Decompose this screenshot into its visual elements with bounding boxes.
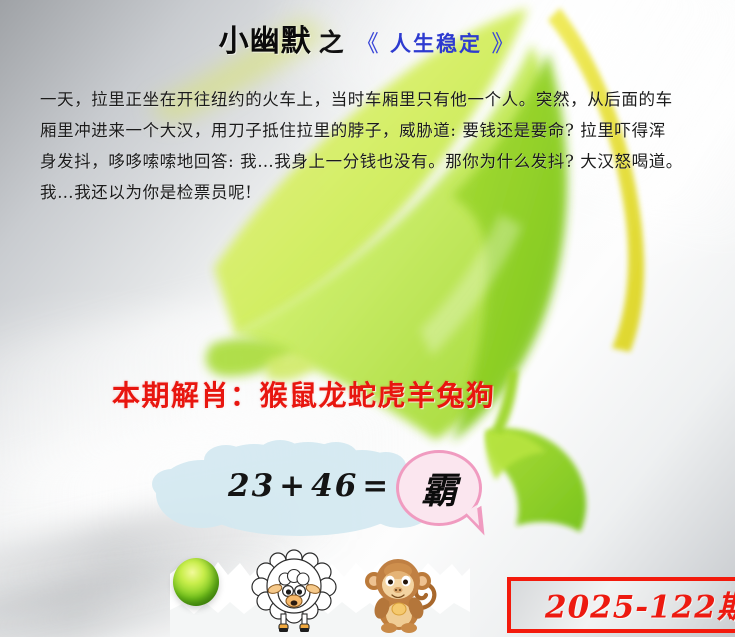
equation-operator: +	[279, 468, 307, 504]
title-main: 小幽默	[219, 24, 312, 59]
title-subtitle-text: 人生稳定	[390, 32, 482, 56]
story-line: 一天，拉里正坐在开往纽约的火车上，当时车厢里只有他一个人。突然，从后面的车	[40, 84, 700, 115]
equation-equals: =	[362, 468, 390, 504]
lottery-poster: 小幽默之《 人生稳定 》 一天，拉里正坐在开往纽约的火车上，当时车厢里只有他一个…	[0, 0, 735, 637]
zodiac-forecast: 本期解肖：猴鼠龙蛇虎羊兔狗	[112, 374, 496, 414]
bracket-close: 》	[491, 31, 516, 57]
equation: 23+46=	[228, 468, 394, 504]
story-line: 厢里冲进来一个大汉，用刀子抵住拉里的脖子，威胁道: 要钱还是要命? 拉里吓得浑	[40, 115, 700, 146]
answer-character: 霸	[396, 450, 482, 526]
issue-number: 2025-122期	[545, 582, 735, 627]
answer-bubble: 霸	[396, 450, 500, 546]
monkey-cartoon	[358, 552, 440, 636]
title-connector: 之	[319, 28, 344, 57]
page-title: 小幽默之《 人生稳定 》	[0, 16, 735, 60]
title-subtitle: 《 人生稳定 》	[356, 32, 517, 56]
green-orb	[173, 558, 219, 606]
sheep-cartoon	[248, 548, 340, 634]
story-body: 一天，拉里正坐在开往纽约的火车上，当时车厢里只有他一个人。突然，从后面的车 厢里…	[40, 84, 700, 208]
story-line: 身发抖，哆哆嗦嗦地回答: 我…我身上一分钱也没有。那你为什么发抖? 大汉怒喝道。	[40, 146, 700, 177]
equation-operand-b: 46	[311, 468, 358, 504]
bracket-open: 《	[356, 31, 381, 57]
story-line: 我…我还以为你是检票员呢!	[40, 177, 700, 208]
equation-operand-a: 23	[228, 468, 275, 504]
background-shadow-band-b	[0, 552, 292, 637]
issue-badge: 2025-122期	[507, 577, 735, 633]
